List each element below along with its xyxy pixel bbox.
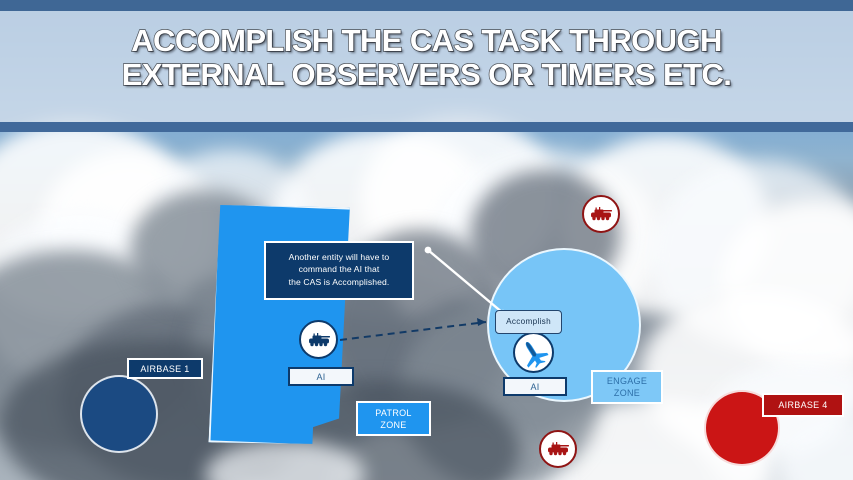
page-title: ACCOMPLISH THE CAS TASK THROUGH EXTERNAL… [0,24,853,92]
armored-vehicle-glyph [306,332,332,348]
armored-vehicle-glyph [588,206,614,222]
callout-box: Another entity will have to command the … [264,241,414,300]
accomplish-command-label[interactable]: Accomplish [495,310,562,334]
banner-bottom-rule [0,122,853,132]
engage-zone-label: ENGAGE ZONE [591,370,663,404]
airbase-1-shape [80,375,158,453]
banner-top-rule [0,0,853,11]
slide-canvas: ACCOMPLISH THE CAS TASK THROUGH EXTERNAL… [0,0,853,480]
fighter-jet-glyph [519,338,549,368]
armored-vehicle-icon-red-south[interactable] [539,430,577,468]
armored-vehicle-icon-blue[interactable] [299,320,338,359]
patrol-zone-label: PATROL ZONE [356,401,431,436]
ai-label-air: AI [503,377,567,396]
fighter-jet-icon-blue[interactable] [513,332,554,373]
armored-vehicle-glyph [545,441,571,457]
airbase-1-label: AIRBASE 1 [127,358,203,379]
armored-vehicle-icon-red-north[interactable] [582,195,620,233]
ai-label-ground: AI [288,367,354,386]
airbase-4-label: AIRBASE 4 [762,393,844,417]
